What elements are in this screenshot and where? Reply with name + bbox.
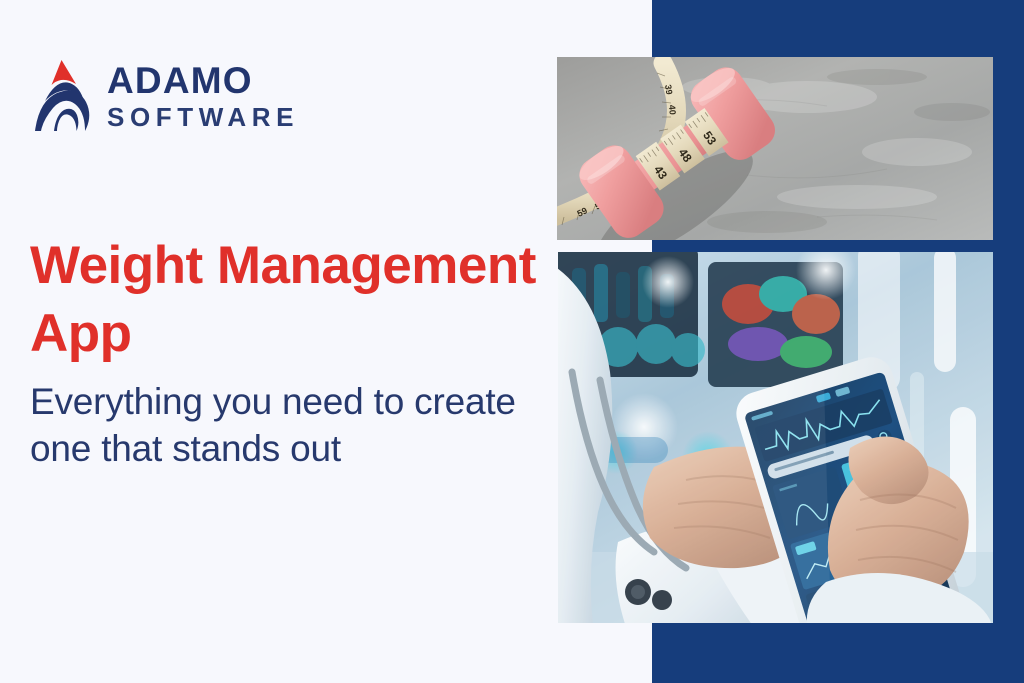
brand-name-secondary: SOFTWARE (107, 104, 299, 130)
adamo-arrow-logo-mark (33, 57, 93, 135)
svg-text:40: 40 (667, 104, 678, 115)
photo-doctor-artwork (558, 252, 993, 623)
brand-wordmark: ADAMO SOFTWARE (107, 62, 299, 130)
photo-dumbbell-measuring-tape: 39 40 59 58 57 56 (557, 57, 993, 240)
svg-text:39: 39 (663, 84, 674, 95)
page-subtitle: Everything you need to create one that s… (30, 378, 550, 473)
marketing-banner: ADAMO SOFTWARE Weight Management App Eve… (0, 0, 1024, 683)
photo-dumbbell-artwork: 39 40 59 58 57 56 (557, 57, 993, 240)
brand-name-primary: ADAMO (107, 62, 299, 99)
brand-logo[interactable]: ADAMO SOFTWARE (33, 57, 299, 135)
page-title: Weight Management App (30, 232, 550, 368)
photo-doctor-with-phone (558, 252, 993, 623)
